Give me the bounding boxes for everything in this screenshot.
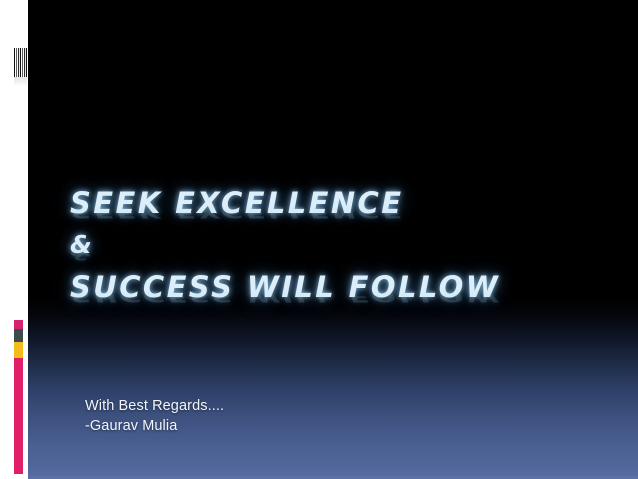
accent-chip-magenta-top: [14, 320, 23, 329]
accent-chip-magenta-bar: [14, 358, 23, 474]
slide-subtitle: With Best Regards.... -Gaurav Mulia: [85, 396, 485, 436]
slide-title-line-3: SUCCESS WILL FOLLOW SUCCESS WILL FOLLOW: [70, 266, 610, 308]
slide-title: SEEK EXCELLENCE SEEK EXCELLENCE & & SUCC…: [70, 182, 610, 308]
accent-chip-amber: [14, 342, 23, 358]
slide-title-line-2: & &: [70, 224, 610, 266]
slide-title-line-2-reflection: &: [70, 243, 610, 266]
slide-title-line-3-text: SUCCESS WILL FOLLOW: [70, 270, 500, 304]
slide-subtitle-line-1: With Best Regards....: [85, 396, 485, 416]
slide-title-line-2-text: &: [70, 230, 93, 259]
slide-subtitle-line-2: -Gaurav Mulia: [85, 416, 485, 436]
slide-root: SEEK EXCELLENCE SEEK EXCELLENCE & & SUCC…: [0, 0, 638, 479]
slide-title-line-1: SEEK EXCELLENCE SEEK EXCELLENCE: [70, 182, 610, 224]
accent-chip-slate: [14, 329, 23, 342]
barcode-stripes-icon: [14, 48, 27, 77]
slide-title-line-1-text: SEEK EXCELLENCE: [70, 186, 403, 220]
